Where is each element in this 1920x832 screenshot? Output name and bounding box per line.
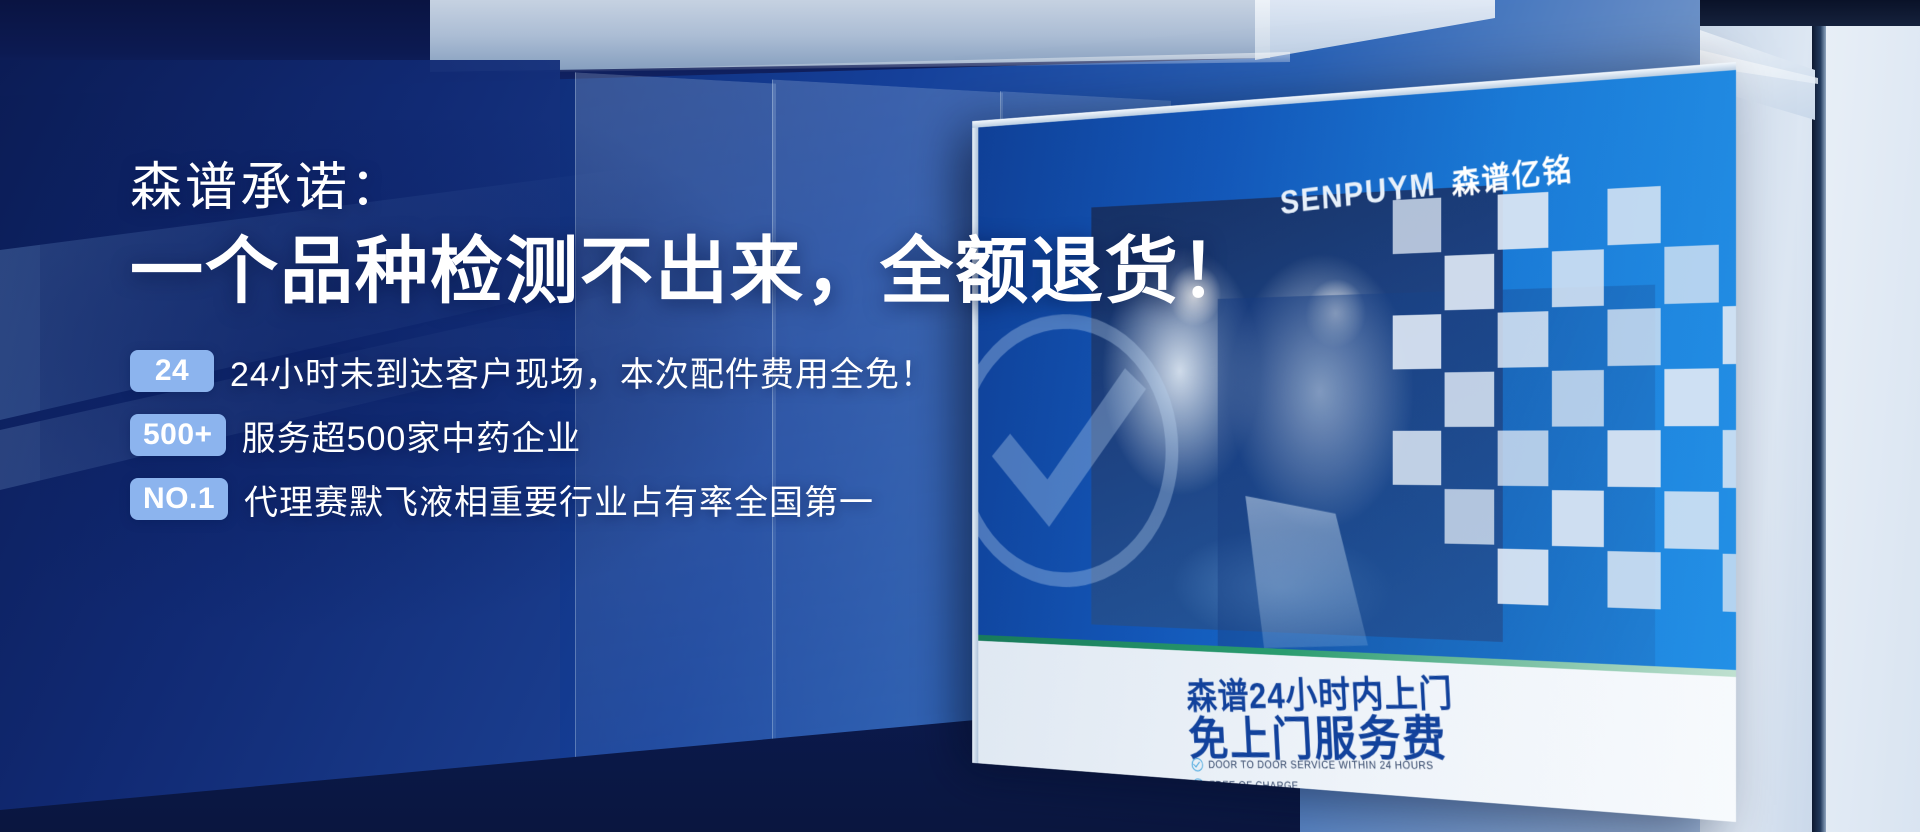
mosaic-square — [1607, 430, 1660, 487]
promo-banner: SENPUYM 森谱亿铭 森谱24小时内上门 免上门服务费 DOOR TO DO… — [0, 0, 1920, 832]
promo-bullet: NO.1代理赛默飞液相重要行业占有率全国第一 — [130, 475, 1310, 524]
promo-bullet-badge: 24 — [130, 350, 214, 392]
billboard-cta: 森谱24小时内上门 免上门服务费 — [1186, 670, 1714, 766]
logo-text-cn: 森谱亿铭 — [1450, 143, 1574, 204]
promo-bullet-list: 2424小时未到达客户现场，本次配件费用全免！500+服务超500家中药企业NO… — [130, 347, 1310, 524]
mosaic-square — [1552, 249, 1604, 307]
promo-bullet-badge: 500+ — [130, 414, 226, 456]
far-wall — [1825, 0, 1920, 832]
promo-bullet: 2424小时未到达客户现场，本次配件费用全免！ — [130, 347, 1310, 396]
mosaic-square — [1552, 490, 1604, 547]
promo-eyebrow: 森谱承诺： — [130, 160, 1310, 217]
mosaic-square — [1445, 254, 1495, 311]
mosaic-square — [1664, 491, 1718, 549]
promo-copy: 森谱承诺： 一个品种检测不出来，全额退货！ 2424小时未到达客户现场，本次配件… — [130, 160, 1310, 524]
mosaic-square — [1664, 368, 1718, 426]
ceiling-light-panel-far — [1255, 0, 1495, 60]
mosaic-square — [1498, 549, 1549, 606]
mosaic-square — [1723, 554, 1736, 614]
mosaic-square — [1393, 431, 1441, 486]
mosaic-square — [1498, 311, 1549, 368]
promo-bullet: 500+服务超500家中药企业 — [130, 411, 1310, 460]
mosaic-square — [1498, 430, 1549, 486]
mosaic-square — [1664, 245, 1718, 304]
english-note-row-1: DOOR TO DOOR SERVICE WITHIN 24 HOURS — [1191, 754, 1623, 777]
pixel-mosaic-decoration — [1393, 181, 1736, 652]
mosaic-square — [1445, 489, 1495, 545]
mosaic-square — [1607, 551, 1660, 609]
promo-bullet-badge: NO.1 — [130, 478, 228, 520]
cta-line-1: 森谱24小时内上门 — [1186, 670, 1711, 716]
mosaic-square — [1393, 314, 1441, 369]
right-ceiling-shadow — [1700, 0, 1920, 26]
promo-bullet-text: 24小时未到达客户现场，本次配件费用全免！ — [230, 347, 935, 396]
mosaic-square — [1607, 308, 1660, 366]
pillar-edge — [1812, 0, 1826, 832]
check-circle-icon — [1191, 758, 1203, 771]
mosaic-square — [1607, 186, 1660, 245]
mosaic-square — [1723, 305, 1736, 364]
promo-bullet-text: 服务超500家中药企业 — [242, 411, 582, 460]
promo-headline: 一个品种检测不出来，全额退货！ — [130, 231, 1310, 313]
promo-bullet-text: 代理赛默飞液相重要行业占有率全国第一 — [244, 475, 874, 524]
mosaic-square — [1445, 372, 1495, 427]
mosaic-square — [1723, 430, 1736, 489]
english-note-1: DOOR TO DOOR SERVICE WITHIN 24 HOURS — [1208, 754, 1434, 776]
mosaic-square — [1552, 370, 1604, 427]
